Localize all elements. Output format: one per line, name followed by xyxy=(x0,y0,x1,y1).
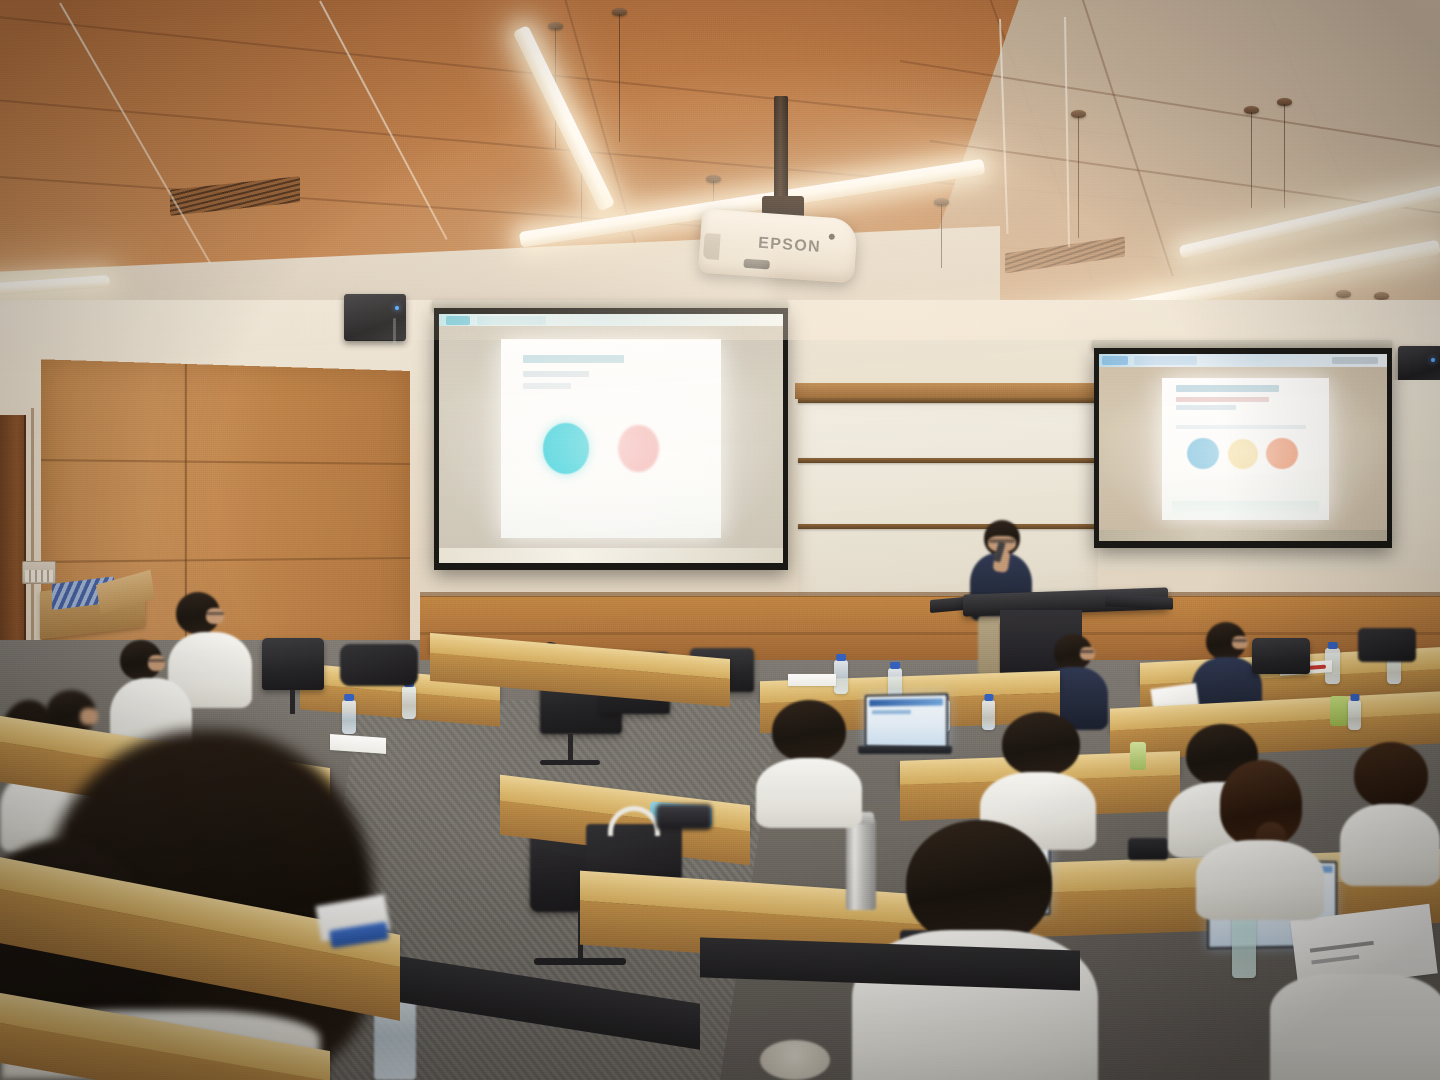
secondary-screen-surface xyxy=(1099,354,1387,541)
suspension-cable xyxy=(619,14,620,142)
smartphone[interactable] xyxy=(1128,838,1168,860)
bottle-cap-icon xyxy=(344,694,354,701)
stamp-object xyxy=(760,1040,830,1080)
student-glasses-icon xyxy=(147,659,165,662)
suspension-cable xyxy=(1078,116,1079,238)
student-face xyxy=(148,655,165,671)
slide-tab-chip xyxy=(477,316,546,325)
speaker-slot-icon xyxy=(393,318,396,346)
water-bottle xyxy=(834,660,848,694)
slide-title-bar xyxy=(439,314,783,326)
student-face xyxy=(1080,647,1095,660)
audience-member xyxy=(1340,742,1440,882)
student-head xyxy=(772,700,846,762)
student-face xyxy=(80,708,98,725)
whiteboard-rail xyxy=(798,458,1098,463)
audience-member-foreground xyxy=(1270,960,1440,1080)
ceiling-mount-puck xyxy=(1336,290,1351,298)
projector-vent-icon xyxy=(703,233,721,260)
whiteboard-top-trim xyxy=(795,383,1105,399)
bottle-cap-icon xyxy=(1327,642,1338,649)
chair-base xyxy=(534,958,626,965)
slide-footer-band xyxy=(1172,501,1319,515)
backpack xyxy=(340,644,418,686)
lecture-hall-photo: EPSON xyxy=(0,0,1440,1080)
slide-text-line xyxy=(1176,405,1236,410)
slide-page xyxy=(1162,378,1329,520)
slide-tab-chip xyxy=(1102,356,1128,365)
laptop-base xyxy=(858,746,952,754)
front-whiteboard xyxy=(798,398,1098,608)
student-head xyxy=(1002,712,1080,776)
bottle-cap-icon xyxy=(890,662,900,669)
slide-tab-chip xyxy=(446,316,470,325)
slide-text-line xyxy=(523,371,589,377)
bottle-cap-icon xyxy=(836,654,846,661)
chair-post xyxy=(290,690,295,714)
bottle-cap-icon xyxy=(1350,694,1359,701)
audience-member xyxy=(756,700,864,826)
ceiling-mount-puck xyxy=(1374,292,1389,300)
slide-text-line xyxy=(523,383,571,389)
paper-text-line xyxy=(1310,941,1374,953)
main-screen-surface xyxy=(439,314,783,563)
wall-speaker-right xyxy=(1398,346,1440,384)
projector-indicator-icon xyxy=(829,234,835,240)
orange-circle-icon xyxy=(1266,438,1298,469)
riser-trim xyxy=(420,632,1440,635)
office-chair[interactable] xyxy=(262,638,324,690)
projector-lens-icon xyxy=(743,259,770,270)
student-head xyxy=(1354,742,1428,808)
student-glasses-icon xyxy=(1079,650,1094,653)
slide-window-controls-icon xyxy=(1332,357,1378,364)
slide-heading-line xyxy=(1176,385,1280,392)
speaker-led-icon xyxy=(395,306,399,310)
projector: EPSON xyxy=(698,209,858,284)
blue-circle-icon xyxy=(1187,438,1219,469)
smartphone[interactable] xyxy=(656,804,712,830)
wall-speaker-left xyxy=(344,294,406,341)
chair-base xyxy=(540,760,600,765)
student-glasses-icon xyxy=(205,612,224,615)
backpack xyxy=(1358,628,1416,662)
main-projection-screen xyxy=(434,308,788,570)
laptop[interactable] xyxy=(865,693,949,749)
whiteboard-rail xyxy=(798,524,1098,529)
cyan-circle-icon xyxy=(543,423,589,475)
speaker-led-icon xyxy=(1431,358,1435,362)
air-vent-icon xyxy=(170,176,300,216)
riser-trim xyxy=(420,592,1440,597)
side-door[interactable] xyxy=(0,415,26,665)
slide-title-bar xyxy=(1099,354,1387,367)
suspension-cable xyxy=(1284,104,1285,208)
suspension-cable xyxy=(1251,112,1252,208)
student-shirt xyxy=(1270,974,1440,1080)
student-shirt xyxy=(1340,804,1440,886)
office-chair[interactable] xyxy=(1252,638,1310,674)
bottle-cap-icon xyxy=(984,694,993,701)
salmon-circle-icon xyxy=(618,425,660,473)
water-bottle xyxy=(1348,700,1361,730)
student-glasses-icon xyxy=(1231,639,1247,642)
green-thermos xyxy=(1330,696,1348,726)
wall-light-switch[interactable] xyxy=(22,561,56,584)
water-bottle xyxy=(402,686,416,719)
whiteboard-rail xyxy=(798,398,1098,403)
student-face xyxy=(1232,636,1248,649)
slide-divider xyxy=(1176,425,1306,429)
green-bottle xyxy=(1130,742,1146,770)
suspension-cable xyxy=(941,204,942,268)
student-shirt xyxy=(1196,840,1324,920)
student-shirt xyxy=(756,758,862,828)
slide-task-bar xyxy=(1099,530,1387,541)
slide-tab-chip xyxy=(1134,356,1197,365)
laptop-screen-content xyxy=(869,698,943,706)
student-face xyxy=(206,608,224,624)
secondary-projection-screen xyxy=(1094,348,1392,548)
student-head xyxy=(906,820,1052,946)
slide-heading-line xyxy=(523,355,624,363)
slide-task-bar xyxy=(439,548,783,563)
laptop-screen-content xyxy=(872,710,911,714)
paper-handout xyxy=(788,674,836,686)
yellow-circle-icon xyxy=(1228,439,1258,469)
water-bottle xyxy=(342,700,356,734)
audience-member xyxy=(1196,760,1326,916)
slide-page xyxy=(501,339,721,538)
projector-brand-label: EPSON xyxy=(757,235,821,257)
slide-text-line xyxy=(1176,397,1270,402)
